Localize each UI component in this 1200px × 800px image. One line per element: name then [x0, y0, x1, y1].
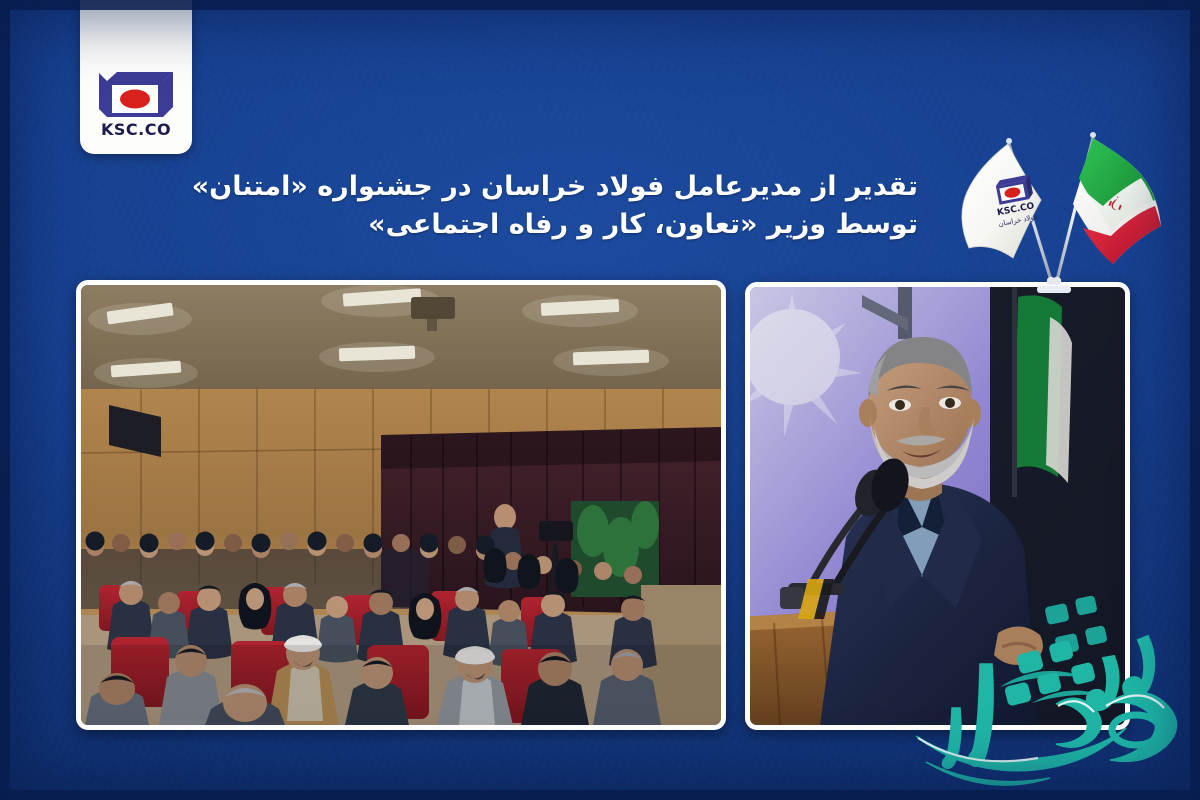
iran-flag [1073, 138, 1161, 264]
ksc-wordmark: KSC.CO [101, 122, 171, 138]
podium-speech-illustration [750, 287, 1125, 725]
table-flags-group: KSC.CO فولاد خراسان [955, 108, 1170, 298]
page-title: تقدیر از مدیرعامل فولاد خراسان در جشنوار… [278, 168, 918, 245]
conference-hall-audience-photo[interactable] [76, 280, 726, 730]
ksc-cube-icon [99, 71, 173, 119]
minister-speech-podium-photo[interactable] [745, 282, 1130, 730]
headline-line-2: توسط وزیر «تعاون، کار و رفاه اجتماعی» [278, 206, 918, 244]
news-poster: KSC.CO تقدیر از مدیرعامل فولاد خراسان در… [0, 0, 1200, 800]
ksc-company-flag: KSC.CO فولاد خراسان [962, 144, 1041, 258]
conference-hall-illustration [81, 285, 721, 725]
headline-line-1: تقدیر از مدیرعامل فولاد خراسان در جشنوار… [278, 168, 918, 206]
ksc-logo-card[interactable]: KSC.CO [80, 0, 192, 154]
